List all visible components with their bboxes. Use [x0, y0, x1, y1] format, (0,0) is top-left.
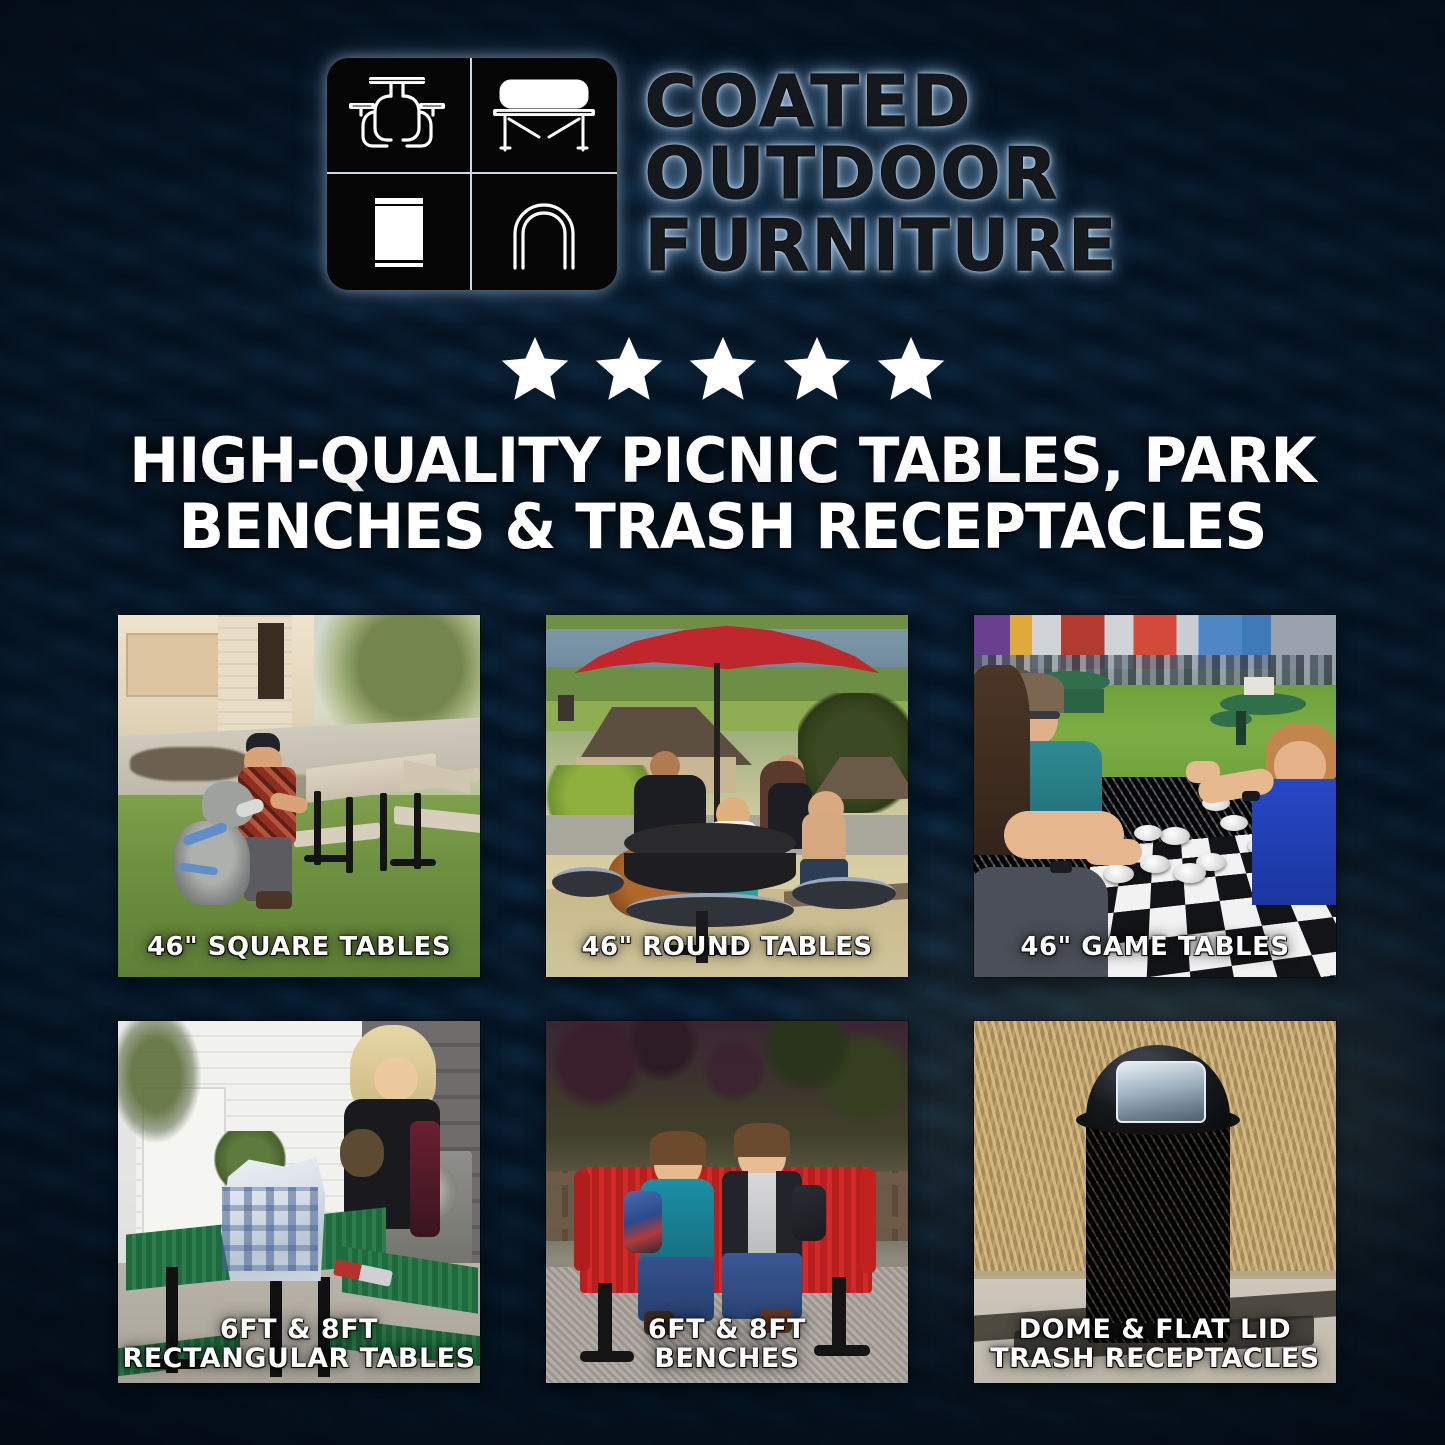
product-caption: 6FT & 8FT RECTANGULAR TABLES: [118, 1315, 480, 1373]
star-icon: [780, 332, 854, 406]
product-tile-game-tables[interactable]: 46" GAME TABLES: [974, 615, 1336, 977]
bike-rack-icon: [472, 174, 617, 290]
product-tile-trash-receptacles[interactable]: DOME & FLAT LID TRASH RECEPTACLES: [974, 1021, 1336, 1383]
poster-content: COATED OUTDOOR FURNITURE HIGH-QUALITY PI…: [0, 0, 1445, 1445]
brand-header: COATED OUTDOOR FURNITURE: [0, 58, 1445, 290]
star-icon: [874, 332, 948, 406]
star-icon: [498, 332, 572, 406]
product-caption: DOME & FLAT LID TRASH RECEPTACLES: [974, 1315, 1336, 1373]
product-photo-round-tables: [546, 615, 908, 977]
poster-canvas: COATED OUTDOOR FURNITURE HIGH-QUALITY PI…: [0, 0, 1445, 1445]
star-icon: [592, 332, 666, 406]
brand-wordmark: COATED OUTDOOR FURNITURE: [645, 68, 1119, 280]
trash-receptacle-icon: [327, 174, 472, 290]
product-photo-square-tables: [118, 615, 480, 977]
brand-line-2: OUTDOOR: [645, 140, 1060, 208]
product-caption: 46" SQUARE TABLES: [118, 933, 480, 961]
product-tile-round-tables[interactable]: 46" ROUND TABLES: [546, 615, 908, 977]
park-bench-icon: [472, 58, 617, 174]
product-tile-benches[interactable]: 6FT & 8FT BENCHES: [546, 1021, 908, 1383]
brand-line-3: FURNITURE: [645, 212, 1119, 280]
product-photo-game-tables: [974, 615, 1336, 977]
product-grid: 46" SQUARE TABLES: [118, 615, 1324, 1383]
star-rating: [0, 332, 1445, 406]
product-caption: 46" GAME TABLES: [974, 933, 1336, 961]
star-icon: [686, 332, 760, 406]
product-tile-rectangular-tables[interactable]: 6FT & 8FT RECTANGULAR TABLES: [118, 1021, 480, 1383]
brand-line-1: COATED: [645, 68, 973, 136]
brand-logo-mark: [327, 58, 617, 290]
product-caption: 46" ROUND TABLES: [546, 933, 908, 961]
picnic-table-icon: [327, 58, 472, 174]
page-title: HIGH-QUALITY PICNIC TABLES, PARK BENCHES…: [106, 428, 1340, 559]
product-tile-square-tables[interactable]: 46" SQUARE TABLES: [118, 615, 480, 977]
product-caption: 6FT & 8FT BENCHES: [546, 1315, 908, 1373]
